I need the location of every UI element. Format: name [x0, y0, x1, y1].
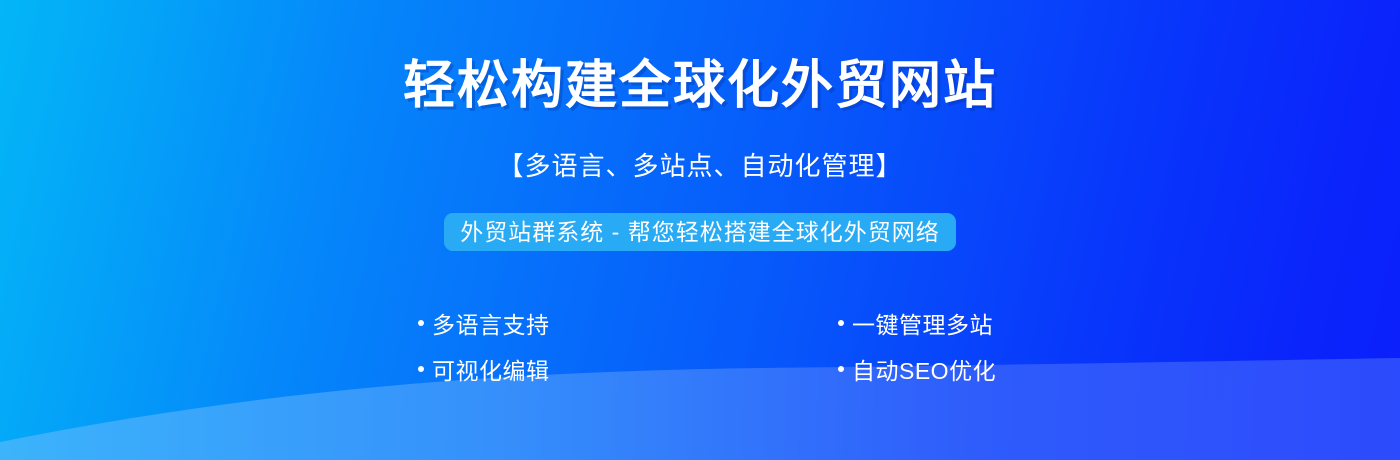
- tagline-row: 外贸站群系统 - 帮您轻松搭建全球化外贸网络: [0, 213, 1400, 251]
- feature-label: 自动SEO优化: [852, 352, 996, 386]
- feature-column-right: 一键管理多站 自动SEO优化: [838, 304, 996, 396]
- feature-column-left: 多语言支持 可视化编辑: [418, 304, 550, 396]
- bullet-dot-icon: [838, 366, 844, 372]
- feature-label: 多语言支持: [432, 306, 550, 340]
- promo-banner: 轻松构建全球化外贸网站 【多语言、多站点、自动化管理】 外贸站群系统 - 帮您轻…: [0, 0, 1400, 460]
- list-item: 一键管理多站: [838, 304, 996, 342]
- feature-list: 多语言支持 可视化编辑 一键管理多站 自动SEO优化: [0, 304, 1400, 394]
- feature-label: 可视化编辑: [432, 352, 550, 386]
- banner-content: 轻松构建全球化外贸网站 【多语言、多站点、自动化管理】 外贸站群系统 - 帮您轻…: [0, 0, 1400, 460]
- bullet-dot-icon: [418, 366, 424, 372]
- bullet-dot-icon: [418, 320, 424, 326]
- list-item: 可视化编辑: [418, 350, 550, 388]
- bullet-dot-icon: [838, 320, 844, 326]
- feature-label: 一键管理多站: [852, 306, 993, 340]
- tagline-badge: 外贸站群系统 - 帮您轻松搭建全球化外贸网络: [444, 213, 955, 251]
- list-item: 自动SEO优化: [838, 350, 996, 388]
- list-item: 多语言支持: [418, 304, 550, 342]
- banner-title: 轻松构建全球化外贸网站: [0, 57, 1400, 117]
- banner-subtitle: 【多语言、多站点、自动化管理】: [0, 146, 1400, 183]
